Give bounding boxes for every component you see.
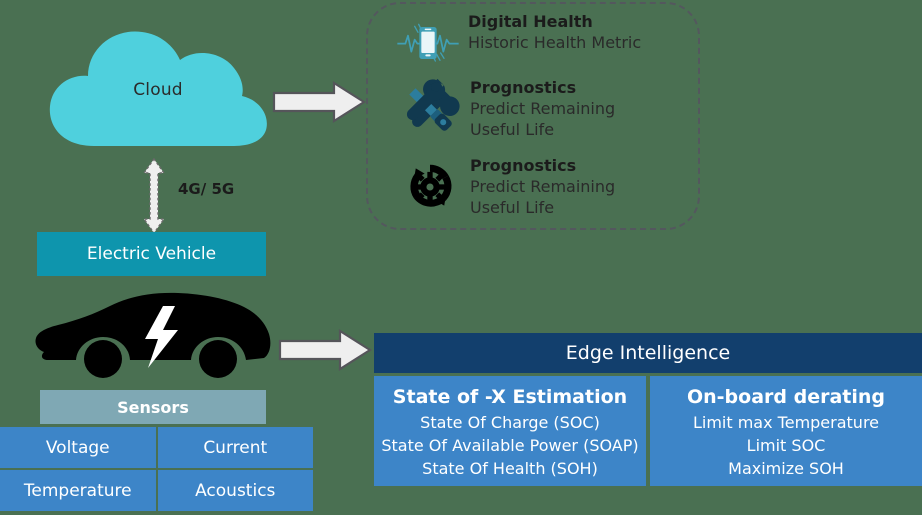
edge-intelligence-panel: Edge Intelligence State of -X Estimation… bbox=[374, 333, 922, 483]
cloud-node: Cloud bbox=[38, 18, 278, 158]
analytics-item-line: Predict Remaining bbox=[470, 176, 615, 197]
connection-label: 4G/ 5G bbox=[178, 180, 234, 198]
sensor-label: Temperature bbox=[24, 481, 132, 501]
edge-intelligence-header: Edge Intelligence bbox=[374, 333, 922, 373]
analytics-item-prognostics-tools[interactable]: Prognostics Predict Remaining Useful Lif… bbox=[398, 78, 615, 140]
sensor-cell-voltage[interactable]: Voltage bbox=[0, 427, 156, 468]
sensor-label: Voltage bbox=[46, 438, 110, 458]
analytics-item-line: Predict Remaining bbox=[470, 98, 615, 119]
analytics-item-title: Prognostics bbox=[470, 156, 615, 176]
edge-column-item: State Of Available Power (SOAP) bbox=[374, 434, 646, 457]
edge-column-state-of-x[interactable]: State of -X Estimation State Of Charge (… bbox=[374, 376, 646, 486]
edge-column-item: State Of Health (SOH) bbox=[374, 457, 646, 480]
edge-column-item: Limit max Temperature bbox=[650, 411, 922, 434]
digital-health-phone-ecg-icon bbox=[396, 12, 460, 74]
diagram-canvas: Cloud 4G/ 5G Electric Vehicle Sensors Vo… bbox=[0, 0, 922, 515]
right-block-arrow-icon bbox=[272, 80, 366, 124]
analytics-item-title: Prognostics bbox=[470, 78, 615, 98]
electric-car-node bbox=[32, 282, 276, 390]
arrow-vehicle-to-edge bbox=[278, 328, 372, 376]
wrench-screwdriver-tools-icon bbox=[398, 78, 462, 140]
analytics-item-title: Digital Health bbox=[468, 12, 641, 32]
edge-column-title: State of -X Estimation bbox=[374, 385, 646, 410]
edge-column-on-board-derating[interactable]: On-board derating Limit max Temperature … bbox=[650, 376, 922, 486]
electric-vehicle-label: Electric Vehicle bbox=[87, 244, 216, 264]
sensor-cell-current[interactable]: Current bbox=[158, 427, 314, 468]
analytics-item-text: Digital Health Historic Health Metric bbox=[460, 12, 641, 53]
sensor-cell-temperature[interactable]: Temperature bbox=[0, 470, 156, 511]
edge-intelligence-title: Edge Intelligence bbox=[566, 342, 730, 364]
analytics-item-text: Prognostics Predict Remaining Useful Lif… bbox=[462, 156, 615, 218]
electric-vehicle-bar: Electric Vehicle bbox=[37, 232, 266, 276]
edge-column-item: Maximize SOH bbox=[650, 457, 922, 480]
sensors-header-label: Sensors bbox=[117, 398, 189, 417]
sensor-label: Current bbox=[203, 438, 267, 458]
gear-refresh-cycle-icon bbox=[398, 156, 462, 218]
edge-column-title: On-board derating bbox=[650, 385, 922, 410]
connection-arrow bbox=[142, 158, 166, 234]
sensor-cell-acoustics[interactable]: Acoustics bbox=[158, 470, 314, 511]
double-arrow-vertical-icon bbox=[142, 158, 166, 234]
edge-intelligence-body: State of -X Estimation State Of Charge (… bbox=[374, 376, 922, 486]
sensor-label: Acoustics bbox=[195, 481, 275, 501]
arrow-cloud-to-analytics bbox=[272, 80, 366, 128]
analytics-item-prognostics-gear[interactable]: Prognostics Predict Remaining Useful Lif… bbox=[398, 156, 615, 218]
right-block-arrow-icon bbox=[278, 328, 372, 372]
edge-column-item: Limit SOC bbox=[650, 434, 922, 457]
edge-column-item: State Of Charge (SOC) bbox=[374, 411, 646, 434]
electric-car-icon bbox=[32, 282, 276, 390]
analytics-item-line: Useful Life bbox=[470, 197, 615, 218]
analytics-item-line: Useful Life bbox=[470, 119, 615, 140]
sensors-header: Sensors bbox=[40, 390, 266, 424]
sensors-grid: Voltage Current Temperature Acoustics bbox=[0, 427, 313, 511]
analytics-item-text: Prognostics Predict Remaining Useful Lif… bbox=[462, 78, 615, 140]
analytics-item-digital-health[interactable]: Digital Health Historic Health Metric bbox=[396, 12, 641, 74]
cloud-label: Cloud bbox=[38, 80, 278, 100]
analytics-item-line: Historic Health Metric bbox=[468, 32, 641, 53]
